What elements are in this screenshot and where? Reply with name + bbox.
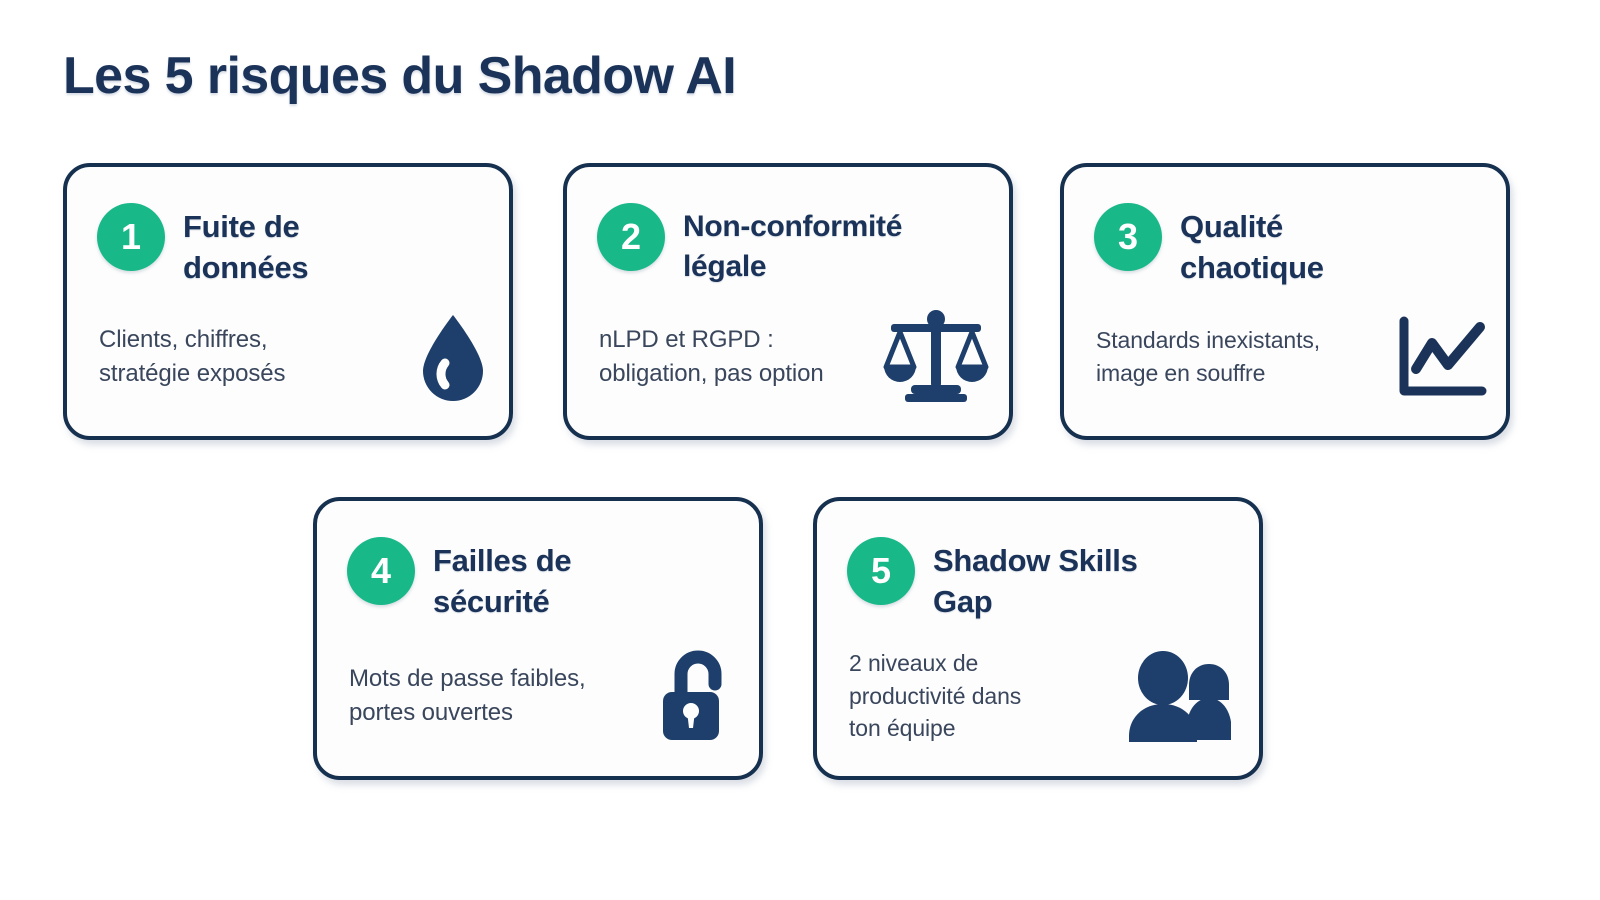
- card-number-badge: 2: [597, 203, 665, 271]
- card-body: Standards inexistants, image en souffre: [1096, 307, 1488, 407]
- card-title: Fuite de données: [183, 203, 308, 289]
- risk-card-2[interactable]: 2 Non-conformité légale nLPD et RGPD : o…: [563, 163, 1013, 440]
- card-title: Failles de sécurité: [433, 537, 571, 623]
- card-desc-line2: image en souffre: [1096, 357, 1320, 390]
- card-body: nLPD et RGPD : obligation, pas option: [599, 307, 989, 407]
- card-desc-line1: Clients, chiffres,: [99, 323, 285, 357]
- open-padlock-icon: [657, 648, 737, 744]
- card-number-badge: 3: [1094, 203, 1162, 271]
- risk-card-1[interactable]: 1 Fuite de données Clients, chiffres, st…: [63, 163, 513, 440]
- card-desc-line2: portes ouvertes: [349, 696, 586, 730]
- card-description: Clients, chiffres, stratégie exposés: [99, 323, 285, 391]
- card-desc-line3: ton équipe: [849, 712, 1021, 745]
- two-people-icon: [1125, 650, 1237, 742]
- card-description: 2 niveaux de productivité dans ton équip…: [849, 647, 1021, 745]
- card-desc-line1: nLPD et RGPD :: [599, 323, 824, 357]
- card-title-line2: légale: [683, 247, 902, 287]
- card-desc-line1: Mots de passe faibles,: [349, 662, 586, 696]
- card-desc-line1: 2 niveaux de: [849, 647, 1021, 680]
- card-title: Non-conformité légale: [683, 203, 902, 286]
- card-body: 2 niveaux de productivité dans ton équip…: [849, 636, 1237, 756]
- card-title-line2: Gap: [933, 582, 1138, 623]
- card-header: 3 Qualité chaotique: [1094, 203, 1486, 289]
- risk-card-3[interactable]: 3 Qualité chaotique Standards inexistant…: [1060, 163, 1510, 440]
- card-title-line1: Qualité: [1180, 207, 1324, 248]
- line-chart-icon: [1396, 315, 1488, 399]
- card-number-badge: 5: [847, 537, 915, 605]
- card-title-line1: Non-conformité: [683, 207, 902, 247]
- risk-card-4[interactable]: 4 Failles de sécurité Mots de passe faib…: [313, 497, 763, 780]
- card-description: Mots de passe faibles, portes ouvertes: [349, 662, 586, 730]
- card-title-line1: Failles de: [433, 541, 571, 582]
- card-number-badge: 4: [347, 537, 415, 605]
- card-header: 1 Fuite de données: [97, 203, 489, 289]
- card-desc-line2: productivité dans: [849, 680, 1021, 713]
- infographic-canvas: Les 5 risques du Shadow AI 1 Fuite de do…: [0, 0, 1600, 900]
- card-number-badge: 1: [97, 203, 165, 271]
- card-desc-line1: Standards inexistants,: [1096, 324, 1320, 357]
- risk-card-5[interactable]: 5 Shadow Skills Gap 2 niveaux de product…: [813, 497, 1263, 780]
- card-header: 4 Failles de sécurité: [347, 537, 739, 623]
- page-title: Les 5 risques du Shadow AI: [63, 46, 736, 106]
- card-description: nLPD et RGPD : obligation, pas option: [599, 323, 824, 391]
- card-title-line2: chaotique: [1180, 248, 1324, 289]
- card-body: Clients, chiffres, stratégie exposés: [99, 307, 489, 407]
- card-desc-line2: obligation, pas option: [599, 357, 824, 391]
- card-body: Mots de passe faibles, portes ouvertes: [349, 641, 737, 751]
- card-header: 5 Shadow Skills Gap: [847, 537, 1239, 623]
- card-title-line2: sécurité: [433, 582, 571, 623]
- card-title: Qualité chaotique: [1180, 203, 1324, 289]
- card-desc-line2: stratégie exposés: [99, 357, 285, 391]
- card-title-line2: données: [183, 248, 308, 289]
- card-title: Shadow Skills Gap: [933, 537, 1138, 623]
- card-header: 2 Non-conformité légale: [597, 203, 989, 286]
- card-title-line1: Fuite de: [183, 207, 308, 248]
- water-drop-icon: [417, 311, 489, 403]
- card-title-line1: Shadow Skills: [933, 541, 1138, 582]
- card-description: Standards inexistants, image en souffre: [1096, 324, 1320, 389]
- scales-of-justice-icon: [883, 309, 989, 405]
